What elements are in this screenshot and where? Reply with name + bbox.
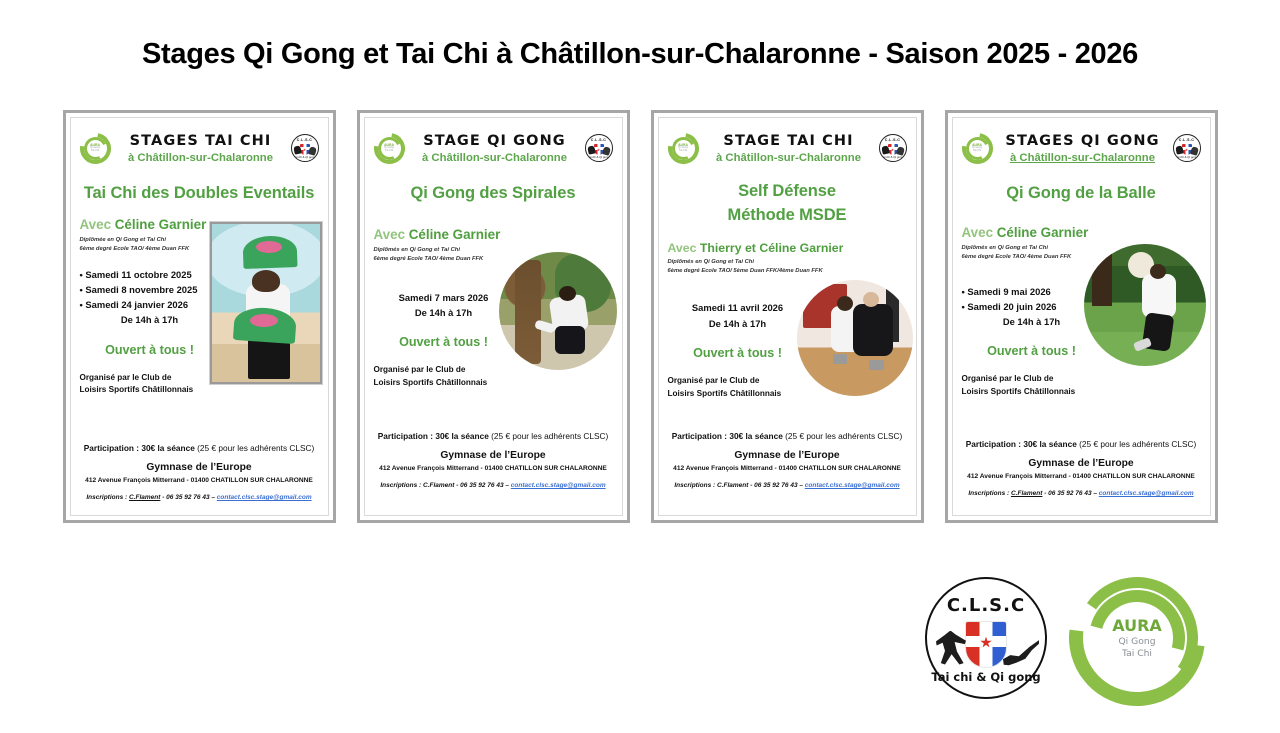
- instructor-name: Céline Garnier: [115, 217, 207, 232]
- instructor-line: Avec Thierry et Céline Garnier: [668, 242, 907, 256]
- registration-phone: - 06 35 92 76 43 –: [160, 494, 216, 501]
- aura-logo-name: AURA: [1112, 616, 1162, 636]
- poster-title: STAGES TAI CHI: [111, 133, 291, 149]
- registration-contact: C.Flament: [129, 494, 160, 501]
- aura-logo-icon: AURA Qi Gong Tai Chi: [962, 133, 993, 164]
- date-item: Samedi 7 mars 2026: [374, 290, 514, 305]
- clsc-logo-title: C.L.S.C: [927, 595, 1045, 616]
- poster-inner: AURA Qi Gong Tai Chi STAGE QI GONG à Châ…: [364, 117, 623, 516]
- date-item: Samedi 11 avril 2026: [668, 300, 808, 315]
- poster-card[interactable]: AURA Qi Gong Tai Chi STAGES QI GONG à Ch…: [945, 110, 1218, 523]
- main-heading-line-1: Self Défense: [668, 180, 907, 204]
- avec-prefix: Avec: [962, 225, 997, 240]
- clsc-logo-icon: C.L.S.C Tai chi & Qi gong: [291, 134, 319, 162]
- poster-body: Avec Céline Garnier Diplômés en Qi Gong …: [374, 228, 613, 390]
- aura-mini-line2: Tai Chi: [91, 150, 99, 153]
- date-item: • Samedi 8 novembre 2025: [80, 282, 220, 297]
- poster-footer: Participation : 30€ la séance (25 € pour…: [962, 439, 1201, 497]
- poster-subtitle: à Châtillon-sur-Chalaronne: [405, 152, 585, 164]
- participation-main: Participation : 30€ la séance: [672, 431, 783, 441]
- poster-inner: AURA Qi Gong Tai Chi STAGES QI GONG à Ch…: [952, 117, 1211, 516]
- date-item: • Samedi 24 janvier 2026: [80, 297, 220, 312]
- participation-fee: Participation : 30€ la séance (25 € pour…: [962, 439, 1201, 449]
- registration-contact: C.Flament: [1011, 490, 1042, 497]
- registration-email-link[interactable]: contact.clsc.stage@gmail.com: [805, 482, 900, 489]
- session-hours: De 14h à 17h: [80, 312, 220, 327]
- taichi-figure-left-icon: [936, 631, 966, 665]
- poster-body: Avec Thierry et Céline Garnier Diplômés …: [668, 242, 907, 400]
- registration-line: Inscriptions : C.Flament - 06 35 92 76 4…: [668, 482, 907, 489]
- venue-address: 412 Avenue François Mitterrand - 01400 C…: [962, 473, 1201, 480]
- organizer-line-2: Loisirs Sportifs Châtillonnais: [80, 384, 319, 397]
- poster-header: AURA Qi Gong Tai Chi STAGE TAI CHI à Châ…: [668, 128, 907, 168]
- participation-note: (25 € pour les adhérents CLSC): [489, 431, 608, 441]
- session-dates: • Samedi 11 octobre 2025 • Samedi 8 nove…: [80, 267, 220, 328]
- venue-name: Gymnase de l’Europe: [374, 450, 613, 461]
- poster-footer: Participation : 30€ la séance (25 € pour…: [668, 431, 907, 489]
- poster-footer: Participation : 30€ la séance (25 € pour…: [80, 443, 319, 501]
- venue-address: 412 Avenue François Mitterrand - 01400 C…: [374, 465, 613, 472]
- instructor-line: Avec Céline Garnier: [962, 226, 1201, 241]
- participation-note: (25 € pour les adhérents CLSC): [783, 431, 902, 441]
- registration-prefix: Inscriptions :: [968, 490, 1011, 497]
- venue-address: 412 Avenue François Mitterrand - 01400 C…: [80, 477, 319, 484]
- participation-fee: Participation : 30€ la séance (25 € pour…: [374, 431, 613, 441]
- clsc-mini-title: C.L.S.C: [586, 138, 612, 142]
- registration-phone: - 06 35 92 76 43 –: [748, 482, 804, 489]
- avec-prefix: Avec: [374, 227, 409, 242]
- poster-inner: AURA Qi Gong Tai Chi STAGES TAI CHI à Ch…: [70, 117, 329, 516]
- posters-row: AURA Qi Gong Tai Chi STAGES TAI CHI à Ch…: [0, 110, 1280, 523]
- clsc-mini-subtitle: Tai chi & Qi gong: [1174, 155, 1200, 159]
- page-title: Stages Qi Gong et Tai Chi à Châtillon-su…: [0, 38, 1280, 71]
- registration-prefix: Inscriptions :: [380, 482, 423, 489]
- date-item: • Samedi 9 mai 2026: [962, 284, 1102, 299]
- poster-photo: [499, 252, 617, 370]
- aura-mini-line2: Tai Chi: [385, 150, 393, 153]
- venue-address: 412 Avenue François Mitterrand - 01400 C…: [668, 465, 907, 472]
- diploma-info: Diplômés en Qi Gong et Tai Chi 6ème degr…: [668, 258, 907, 276]
- venue-name: Gymnase de l’Europe: [80, 462, 319, 473]
- poster-title: STAGES QI GONG: [993, 133, 1173, 149]
- open-to-all-text: Ouvert à tous !: [668, 346, 808, 360]
- registration-email-link[interactable]: contact.clsc.stage@gmail.com: [511, 482, 606, 489]
- session-hours: De 14h à 17h: [962, 314, 1102, 329]
- registration-line: Inscriptions : C.Flament - 06 35 92 76 4…: [80, 494, 319, 501]
- aura-logo-icon: AURA Qi Gong Tai Chi: [1069, 570, 1205, 706]
- registration-email-link[interactable]: contact.clsc.stage@gmail.com: [1099, 490, 1194, 497]
- organizer-info: Organisé par le Club de Loisirs Sportifs…: [962, 373, 1201, 398]
- session-dates: Samedi 11 avril 2026 De 14h à 17h: [668, 300, 808, 330]
- poster-header: AURA Qi Gong Tai Chi STAGES TAI CHI à Ch…: [80, 128, 319, 168]
- poster-main-heading: Tai Chi des Doubles Eventails: [80, 182, 319, 206]
- poster-card[interactable]: AURA Qi Gong Tai Chi STAGES TAI CHI à Ch…: [63, 110, 336, 523]
- clsc-mini-subtitle: Tai chi & Qi gong: [880, 155, 906, 159]
- clsc-logo-icon: C.L.S.C Tai chi & Qi gong: [585, 134, 613, 162]
- clsc-logo-subtitle: Tai chi & Qi gong: [927, 670, 1045, 684]
- venue-name: Gymnase de l’Europe: [962, 458, 1201, 469]
- clsc-logo-icon: C.L.S.C Tai chi & Qi gong: [879, 134, 907, 162]
- participation-main: Participation : 30€ la séance: [378, 431, 489, 441]
- clsc-logo-icon: C.L.S.C Tai chi & Qi gong: [1173, 134, 1201, 162]
- registration-prefix: Inscriptions :: [86, 494, 129, 501]
- avec-prefix: Avec: [80, 217, 115, 232]
- aura-logo-icon: AURA Qi Gong Tai Chi: [80, 133, 111, 164]
- participation-fee: Participation : 30€ la séance (25 € pour…: [668, 431, 907, 441]
- instructor-name: Céline Garnier: [997, 225, 1089, 240]
- clsc-mini-title: C.L.S.C: [1174, 138, 1200, 142]
- poster-header: AURA Qi Gong Tai Chi STAGE QI GONG à Châ…: [374, 128, 613, 168]
- registration-line: Inscriptions : C.Flament - 06 35 92 76 4…: [374, 482, 613, 489]
- diploma-line-1: Diplômés en Qi Gong et Tai Chi: [668, 258, 907, 267]
- poster-body: Avec Céline Garnier Diplômés en Qi Gong …: [962, 226, 1201, 399]
- aura-logo-icon: AURA Qi Gong Tai Chi: [668, 133, 699, 164]
- poster-footer: Participation : 30€ la séance (25 € pour…: [374, 431, 613, 489]
- venue-name: Gymnase de l’Europe: [668, 450, 907, 461]
- date-item: • Samedi 11 octobre 2025: [80, 267, 220, 282]
- participation-note: (25 € pour les adhérents CLSC): [1077, 439, 1196, 449]
- flag-shield-icon: [965, 621, 1007, 668]
- participation-fee: Participation : 30€ la séance (25 € pour…: [80, 443, 319, 453]
- poster-header: AURA Qi Gong Tai Chi STAGES QI GONG à Ch…: [962, 128, 1201, 168]
- aura-logo-line2: Tai Chi: [1122, 648, 1152, 660]
- poster-subtitle: à Châtillon-sur-Chalaronne: [993, 152, 1173, 164]
- session-dates: Samedi 7 mars 2026 De 14h à 17h: [374, 290, 514, 320]
- participation-main: Participation : 30€ la séance: [84, 443, 195, 453]
- organizer-info: Organisé par le Club de Loisirs Sportifs…: [374, 364, 613, 389]
- clsc-mini-subtitle: Tai chi & Qi gong: [292, 155, 318, 159]
- poster-card[interactable]: AURA Qi Gong Tai Chi STAGE TAI CHI à Châ…: [651, 110, 924, 523]
- date-item: • Samedi 20 juin 2026: [962, 299, 1102, 314]
- avec-prefix: Avec: [668, 241, 700, 255]
- registration-email-link[interactable]: contact.clsc.stage@gmail.com: [217, 494, 312, 501]
- registration-contact: C.Flament: [717, 482, 748, 489]
- session-hours: De 14h à 17h: [374, 305, 514, 320]
- aura-mini-line2: Tai Chi: [973, 150, 981, 153]
- instructor-line: Avec Céline Garnier: [374, 228, 613, 243]
- open-to-all-text: Ouvert à tous !: [80, 343, 220, 357]
- session-hours: De 14h à 17h: [668, 316, 808, 331]
- registration-line: Inscriptions : C.Flament - 06 35 92 76 4…: [962, 490, 1201, 497]
- aura-mini-line2: Tai Chi: [679, 150, 687, 153]
- footer-logos: C.L.S.C Tai chi & Qi gong AURA Qi Gong T…: [925, 565, 1245, 710]
- poster-subtitle: à Châtillon-sur-Chalaronne: [699, 152, 879, 164]
- open-to-all-text: Ouvert à tous !: [962, 344, 1102, 358]
- poster-body: Avec Céline Garnier Diplômée en Qi Gong …: [80, 218, 319, 397]
- poster-title: STAGE TAI CHI: [699, 133, 879, 149]
- poster-title: STAGE QI GONG: [405, 133, 585, 149]
- session-dates: • Samedi 9 mai 2026 • Samedi 20 juin 202…: [962, 284, 1102, 330]
- diploma-line-2: 6ème degré Ecole TAO/ 5ème Duan FFK/4ème…: [668, 267, 907, 276]
- open-to-all-text: Ouvert à tous !: [374, 335, 514, 349]
- registration-contact: C.Flament: [423, 482, 454, 489]
- poster-photo: [1084, 244, 1206, 366]
- participation-note: (25 € pour les adhérents CLSC): [195, 443, 314, 453]
- aura-logo-icon: AURA Qi Gong Tai Chi: [374, 133, 405, 164]
- organizer-line-1: Organisé par le Club de: [962, 373, 1201, 386]
- clsc-mini-title: C.L.S.C: [880, 138, 906, 142]
- clsc-mini-subtitle: Tai chi & Qi gong: [586, 155, 612, 159]
- poster-subtitle: à Châtillon-sur-Chalaronne: [111, 152, 291, 164]
- aura-logo-line1: Qi Gong: [1118, 636, 1155, 648]
- poster-photo: [797, 280, 913, 396]
- instructor-name: Thierry et Céline Garnier: [700, 241, 844, 255]
- poster-main-heading: Qi Gong des Spirales: [374, 182, 613, 206]
- poster-photo: [210, 222, 322, 384]
- main-heading-line-2: Méthode MSDE: [668, 204, 907, 228]
- poster-main-heading: Qi Gong de la Balle: [962, 182, 1201, 206]
- registration-prefix: Inscriptions :: [674, 482, 717, 489]
- organizer-line-2: Loisirs Sportifs Châtillonnais: [374, 377, 613, 390]
- poster-card[interactable]: AURA Qi Gong Tai Chi STAGE QI GONG à Châ…: [357, 110, 630, 523]
- registration-phone: - 06 35 92 76 43 –: [454, 482, 510, 489]
- registration-phone: - 06 35 92 76 43 –: [1042, 490, 1098, 497]
- participation-main: Participation : 30€ la séance: [966, 439, 1077, 449]
- clsc-mini-title: C.L.S.C: [292, 138, 318, 142]
- clsc-club-logo-icon: C.L.S.C Tai chi & Qi gong: [925, 577, 1047, 699]
- taichi-figure-right-icon: [1003, 637, 1039, 667]
- poster-main-heading: Self Défense Méthode MSDE: [668, 180, 907, 228]
- poster-inner: AURA Qi Gong Tai Chi STAGE TAI CHI à Châ…: [658, 117, 917, 516]
- organizer-line-2: Loisirs Sportifs Châtillonnais: [962, 386, 1201, 399]
- instructor-name: Céline Garnier: [409, 227, 501, 242]
